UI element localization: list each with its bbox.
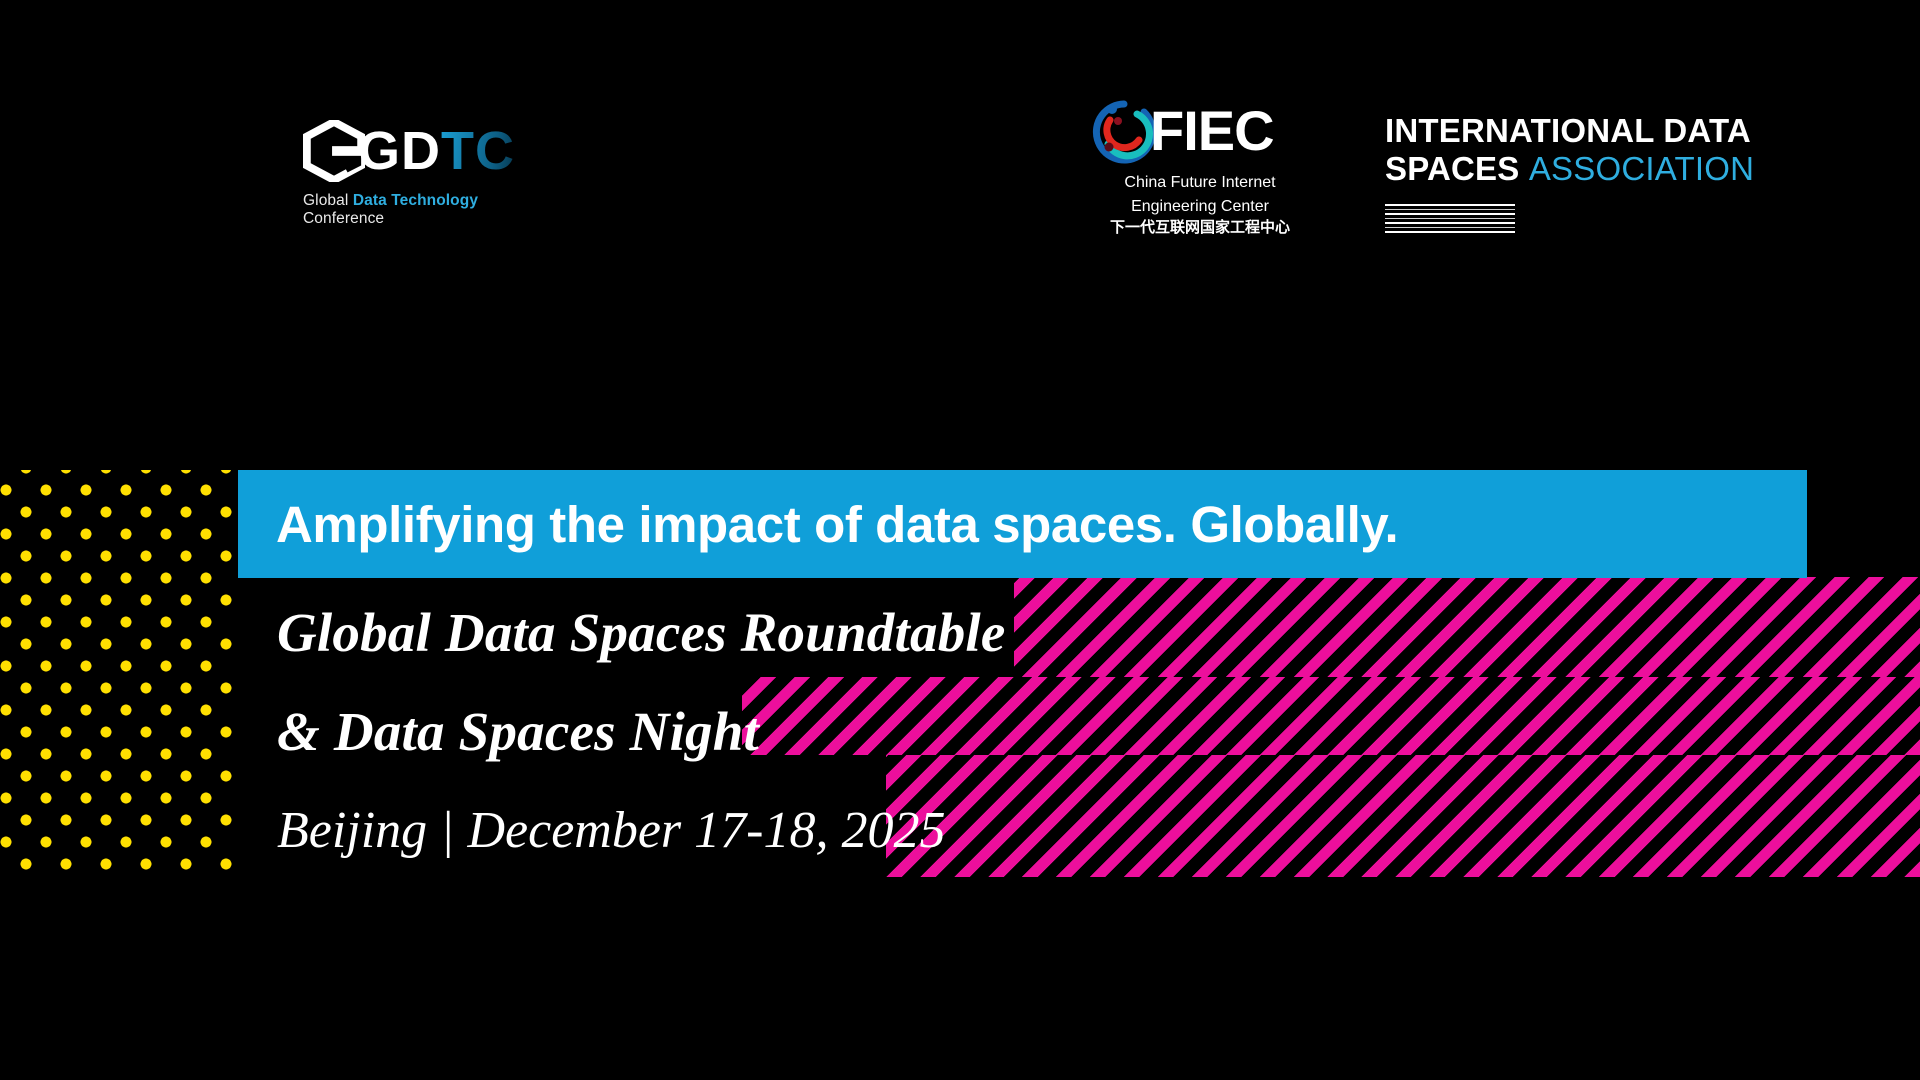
- idsa-line2: SPACES ASSOCIATION: [1385, 150, 1754, 188]
- idsa-bars-icon: [1385, 204, 1515, 233]
- gdtc-hexagon-g-icon: [303, 120, 365, 182]
- gdtc-logo: GDTC Global Data Technology Conference: [303, 120, 523, 228]
- gdtc-wordmark-accent: TC: [441, 121, 515, 181]
- gdtc-subtitle: Global Data Technology Conference: [303, 192, 523, 228]
- gdtc-wordmark: GDTC: [358, 122, 515, 180]
- magenta-stripe-block-lower: [884, 755, 1920, 877]
- event-date-line: Beijing | December 17-18, 2025: [277, 781, 1005, 880]
- headline-text: Amplifying the impact of data spaces. Gl…: [276, 495, 1398, 554]
- cfiec-circular-arcs-icon: [1090, 98, 1158, 166]
- idsa-line1: INTERNATIONAL DATA: [1385, 112, 1754, 150]
- cfiec-mark-row: FIEC: [1090, 98, 1310, 168]
- cfiec-logo: FIEC China Future Internet Engineering C…: [1090, 98, 1310, 237]
- mask-bottom-band: [0, 877, 1920, 1080]
- cfiec-tagline-en-line1: China Future Internet: [1090, 173, 1310, 192]
- cfiec-tagline-cn: 下一代互联网国家工程中心: [1090, 219, 1310, 237]
- gdtc-subtitle-line2: Conference: [303, 210, 523, 228]
- headline-banner: Amplifying the impact of data spaces. Gl…: [238, 470, 1807, 578]
- gdtc-subtitle-prefix: Global: [303, 192, 353, 209]
- logo-row: GDTC Global Data Technology Conference: [0, 0, 1920, 260]
- idsa-line2-blue: ASSOCIATION: [1529, 150, 1754, 187]
- gdtc-mark: GDTC: [303, 120, 523, 182]
- cfiec-wordmark: FIEC: [1150, 100, 1274, 162]
- magenta-stripe-block-upper: [1010, 577, 1920, 677]
- gdtc-wordmark-white: GD: [358, 121, 441, 181]
- event-title-block: Global Data Spaces Roundtable & Data Spa…: [277, 583, 1005, 880]
- idsa-line2-white: SPACES: [1385, 150, 1529, 187]
- gdtc-subtitle-highlight: Data Technology: [353, 192, 478, 209]
- event-title-line1: Global Data Spaces Roundtable: [277, 583, 1005, 682]
- event-title-line2: & Data Spaces Night: [277, 682, 1005, 781]
- cfiec-tagline-en-line2: Engineering Center: [1090, 197, 1310, 216]
- slide-root: GDTC Global Data Technology Conference: [0, 0, 1920, 1080]
- idsa-logo: INTERNATIONAL DATA SPACES ASSOCIATION: [1385, 112, 1754, 236]
